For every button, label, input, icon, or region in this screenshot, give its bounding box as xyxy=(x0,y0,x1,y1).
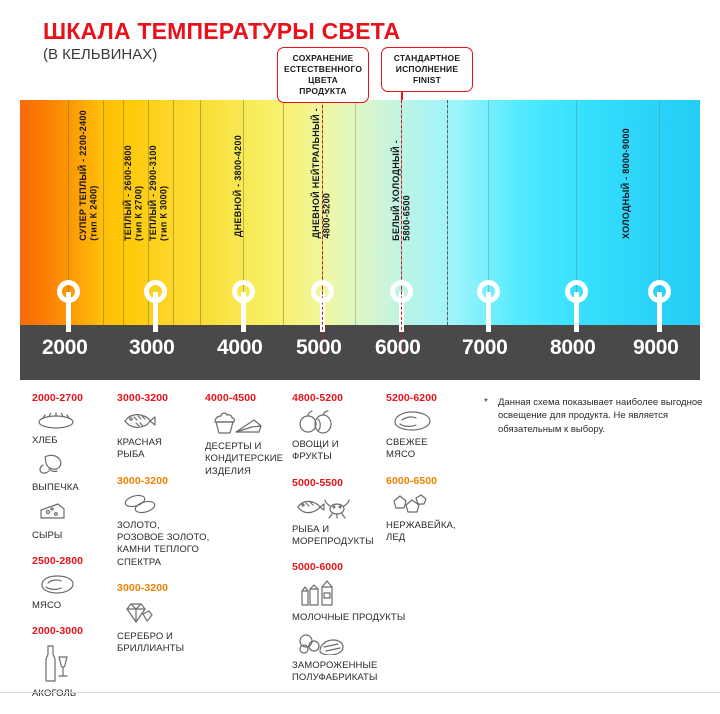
bar-label-warm-2700: ТЕПЛЫЙ - 2600-2800(тип К 2700) xyxy=(123,145,144,241)
legend-group: 2000-3000АКОГОЛЬ xyxy=(32,625,124,700)
diamond-icon xyxy=(121,600,209,631)
legend-column-4: 4800-5200ОВОЩИ И ФРУКТЫ5000-5500РЫБА И М… xyxy=(292,392,384,697)
legend-group: 5200-6200СВЕЖЕЕ МЯСО xyxy=(386,392,478,462)
legend-item: МОЛОЧНЫЕ ПРОДУКТЫ xyxy=(292,579,384,624)
legend-item-label: КРАСНАЯ РЫБА xyxy=(117,437,209,462)
legend-group: 2500-2800МЯСО xyxy=(32,555,124,612)
legend-item: НЕРЖАВЕЙКА, ЛЕД xyxy=(386,493,478,545)
legend-item-label: РЫБА И МОРЕПРОДУКТЫ xyxy=(292,524,384,549)
bar-label-line: БЕЛЫЙ ХОЛОДНЫЙ - xyxy=(391,140,402,241)
footnote-star: * xyxy=(484,396,488,410)
legend-range: 5000-5500 xyxy=(292,477,384,489)
legend-item-label: ЗАМОРОЖЕННЫЕ ПОЛУФАБРИКАТЫ xyxy=(292,660,384,685)
legend-item-label: НЕРЖАВЕЙКА, ЛЕД xyxy=(386,520,478,545)
tick-marker[interactable] xyxy=(57,280,80,303)
scale-number: 3000 xyxy=(129,336,175,360)
frozen-food-icon xyxy=(296,631,384,660)
legend-item: МЯСО xyxy=(32,573,124,612)
callout-finist-standard: СТАНДАРТНОЕИСПОЛНЕНИЕFINIST xyxy=(381,47,473,92)
bar-label-line: (тип К 2400) xyxy=(89,110,100,241)
legend-range: 6000-6500 xyxy=(386,475,478,487)
legend-item: КРАСНАЯ РЫБА xyxy=(117,410,209,462)
bar-label-daylight-neutral: ДНЕВНОЙ НЕЙТРАЛЬНЫЙ -4800-5200 xyxy=(311,108,332,239)
bar-label-warm-3000: ТЕПЛЫЙ - 2900-3100(тип К 3000) xyxy=(148,145,169,241)
legend-group: 3000-3200СЕРЕБРО И БРИЛЛИАНТЫ xyxy=(117,582,209,656)
bar-label-line: 5800-6500 xyxy=(402,140,413,241)
bar-label-line: ТЕПЛЫЙ - 2900-3100 xyxy=(148,145,159,241)
tick-marker[interactable] xyxy=(648,280,671,303)
legend-item: ХЛЕБ xyxy=(32,410,124,447)
legend-item-label: МОЛОЧНЫЕ ПРОДУКТЫ xyxy=(292,612,384,624)
bar-label-line: (тип К 2700) xyxy=(134,145,145,241)
callout-natural-color: СОХРАНЕНИЕЕСТЕСТВЕННОГОЦВЕТА ПРОДУКТА xyxy=(277,47,369,103)
segment-line xyxy=(355,100,356,325)
legend-item-label: МЯСО xyxy=(32,600,124,612)
bar-label-line: СУПЕР ТЕПЛЫЙ - 2200-2400 xyxy=(78,110,89,241)
legend-item-label: ОВОЩИ И ФРУКТЫ xyxy=(292,439,384,464)
cupcake-cake-icon xyxy=(209,410,297,441)
bar-label-daylight: ДНЕВНОЙ - 3800-4200 xyxy=(233,135,244,237)
tick-marker[interactable] xyxy=(311,280,334,303)
bread-icon xyxy=(36,410,124,435)
legend-item-label: ЗОЛОТО, РОЗОВОЕ ЗОЛОТО, КАМНИ ТЕПЛОГО СП… xyxy=(117,520,209,569)
legend-item-label: АКОГОЛЬ xyxy=(32,688,124,700)
legend-range: 3000-3200 xyxy=(117,392,209,404)
callout-line: ЦВЕТА ПРОДУКТА xyxy=(284,75,362,97)
legend-range: 2000-2700 xyxy=(32,392,124,404)
legend-group: 3000-3200ЗОЛОТО, РОЗОВОЕ ЗОЛОТО, КАМНИ Т… xyxy=(117,475,209,569)
tick-marker[interactable] xyxy=(565,280,588,303)
red-fish-icon xyxy=(121,410,209,437)
legend-column-1: 2000-2700ХЛЕБВЫПЕЧКАСЫРЫ2500-2800МЯСО200… xyxy=(32,392,124,714)
legend-group: 3000-3200КРАСНАЯ РЫБА xyxy=(117,392,209,462)
bar-label-line: ТЕПЛЫЙ - 2600-2800 xyxy=(123,145,134,241)
legend-item: ОВОЩИ И ФРУКТЫ xyxy=(292,410,384,464)
legend-range: 2000-3000 xyxy=(32,625,124,637)
legend-group: 4000-4500ДЕСЕРТЫ И КОНДИТЕРСКИЕ ИЗДЕЛИЯ xyxy=(205,392,297,478)
temperature-bar: СУПЕР ТЕПЛЫЙ - 2200-2400(тип К 2400)ТЕПЛ… xyxy=(20,100,700,380)
legend-item-label: СЫРЫ xyxy=(32,530,124,542)
legend-range: 5200-6200 xyxy=(386,392,478,404)
bar-label-super-warm: СУПЕР ТЕПЛЫЙ - 2200-2400(тип К 2400) xyxy=(78,110,99,241)
scale-strip xyxy=(20,325,700,380)
footnote-text: Данная схема показывает наиболее выгодно… xyxy=(498,396,709,436)
callout-line: ИСПОЛНЕНИЕ xyxy=(388,64,466,75)
bar-label-line: ДНЕВНОЙ - 3800-4200 xyxy=(233,135,244,237)
legend-item: РЫБА И МОРЕПРОДУКТЫ xyxy=(292,495,384,549)
legend-item-label: СЕРЕБРО И БРИЛЛИАНТЫ xyxy=(117,631,209,656)
segment-line xyxy=(103,100,104,325)
bar-label-line: ДНЕВНОЙ НЕЙТРАЛЬНЫЙ - xyxy=(311,108,322,239)
fish-crab-icon xyxy=(296,495,384,524)
croissant-icon xyxy=(36,453,124,482)
legend-range: 3000-3200 xyxy=(117,582,209,594)
legend-range: 4000-4500 xyxy=(205,392,297,404)
legend-item-label: ВЫПЕЧКА xyxy=(32,482,124,494)
legend-item-label: ДЕСЕРТЫ И КОНДИТЕРСКИЕ ИЗДЕЛИЯ xyxy=(205,441,297,478)
legend-item: СЕРЕБРО И БРИЛЛИАНТЫ xyxy=(117,600,209,656)
legend-group: 5000-6000МОЛОЧНЫЕ ПРОДУКТЫЗАМОРОЖЕННЫЕ П… xyxy=(292,561,384,684)
tick-marker[interactable] xyxy=(477,280,500,303)
callout-line: СОХРАНЕНИЕ xyxy=(284,53,362,64)
page-subtitle: (В КЕЛЬВИНАХ) xyxy=(43,46,157,63)
segment-line xyxy=(173,100,174,325)
gray-dashed-marker xyxy=(447,100,448,325)
bottom-divider xyxy=(0,692,720,693)
bar-label-white-cold: БЕЛЫЙ ХОЛОДНЫЙ -5800-6500 xyxy=(391,140,412,241)
legend-group: 5000-5500РЫБА И МОРЕПРОДУКТЫ xyxy=(292,477,384,549)
tick-marker[interactable] xyxy=(144,280,167,303)
steak-icon xyxy=(36,573,124,600)
legend-item: ДЕСЕРТЫ И КОНДИТЕРСКИЕ ИЗДЕЛИЯ xyxy=(205,410,297,478)
tick-marker[interactable] xyxy=(390,280,413,303)
infographic-page: ШКАЛА ТЕМПЕРАТУРЫ СВЕТА (В КЕЛЬВИНАХ) СО… xyxy=(0,0,720,704)
legend: 2000-2700ХЛЕБВЫПЕЧКАСЫРЫ2500-2800МЯСО200… xyxy=(20,392,700,692)
cheese-icon xyxy=(36,501,124,530)
legend-item: СВЕЖЕЕ МЯСО xyxy=(386,410,478,462)
scale-number: 5000 xyxy=(296,336,342,360)
bottle-glass-icon xyxy=(36,643,124,688)
legend-group: 6000-6500НЕРЖАВЕЙКА, ЛЕД xyxy=(386,475,478,545)
legend-range: 4800-5200 xyxy=(292,392,384,404)
scale-number: 7000 xyxy=(462,336,508,360)
legend-item: ЗОЛОТО, РОЗОВОЕ ЗОЛОТО, КАМНИ ТЕПЛОГО СП… xyxy=(117,493,209,569)
legend-column-5: 5200-6200СВЕЖЕЕ МЯСО6000-6500НЕРЖАВЕЙКА,… xyxy=(386,392,478,557)
footnote: * Данная схема показывает наиболее выгод… xyxy=(484,396,709,436)
legend-item-label: ХЛЕБ xyxy=(32,435,124,447)
bar-label-cold: ХОЛОДНЫЙ - 8000-9000 xyxy=(621,128,632,239)
bar-label-line: ХОЛОДНЫЙ - 8000-9000 xyxy=(621,128,632,239)
gradient-strip xyxy=(20,100,700,325)
legend-item-label: СВЕЖЕЕ МЯСО xyxy=(386,437,478,462)
bar-label-line: 4800-5200 xyxy=(322,108,333,239)
ice-cubes-icon xyxy=(390,493,478,520)
scale-number: 2000 xyxy=(42,336,88,360)
callout-stem xyxy=(401,91,403,100)
callout-line: FINIST xyxy=(388,75,466,86)
legend-item: ЗАМОРОЖЕННЫЕ ПОЛУФАБРИКАТЫ xyxy=(292,631,384,685)
segment-line xyxy=(283,100,284,325)
legend-range: 3000-3200 xyxy=(117,475,209,487)
milk-carton-icon xyxy=(296,579,384,612)
bar-label-line: (тип К 3000) xyxy=(159,145,170,241)
legend-column-2: 3000-3200КРАСНАЯ РЫБА3000-3200ЗОЛОТО, РО… xyxy=(117,392,209,669)
callout-line: СТАНДАРТНОЕ xyxy=(388,53,466,64)
legend-range: 5000-6000 xyxy=(292,561,384,573)
scale-number: 4000 xyxy=(217,336,263,360)
fruit-vegetable-icon xyxy=(296,410,384,439)
legend-group: 2000-2700ХЛЕБВЫПЕЧКАСЫРЫ xyxy=(32,392,124,542)
legend-item: СЫРЫ xyxy=(32,501,124,542)
segment-line xyxy=(200,100,201,325)
scale-number: 9000 xyxy=(633,336,679,360)
scale-number: 6000 xyxy=(375,336,421,360)
page-title: ШКАЛА ТЕМПЕРАТУРЫ СВЕТА xyxy=(43,18,400,45)
rings-icon xyxy=(121,493,209,520)
legend-group: 4800-5200ОВОЩИ И ФРУКТЫ xyxy=(292,392,384,464)
callout-line: ЕСТЕСТВЕННОГО xyxy=(284,64,362,75)
legend-item: ВЫПЕЧКА xyxy=(32,453,124,494)
tick-marker[interactable] xyxy=(232,280,255,303)
fresh-meat-icon xyxy=(390,410,478,437)
legend-range: 2500-2800 xyxy=(32,555,124,567)
legend-column-3: 4000-4500ДЕСЕРТЫ И КОНДИТЕРСКИЕ ИЗДЕЛИЯ xyxy=(205,392,297,491)
scale-number: 8000 xyxy=(550,336,596,360)
